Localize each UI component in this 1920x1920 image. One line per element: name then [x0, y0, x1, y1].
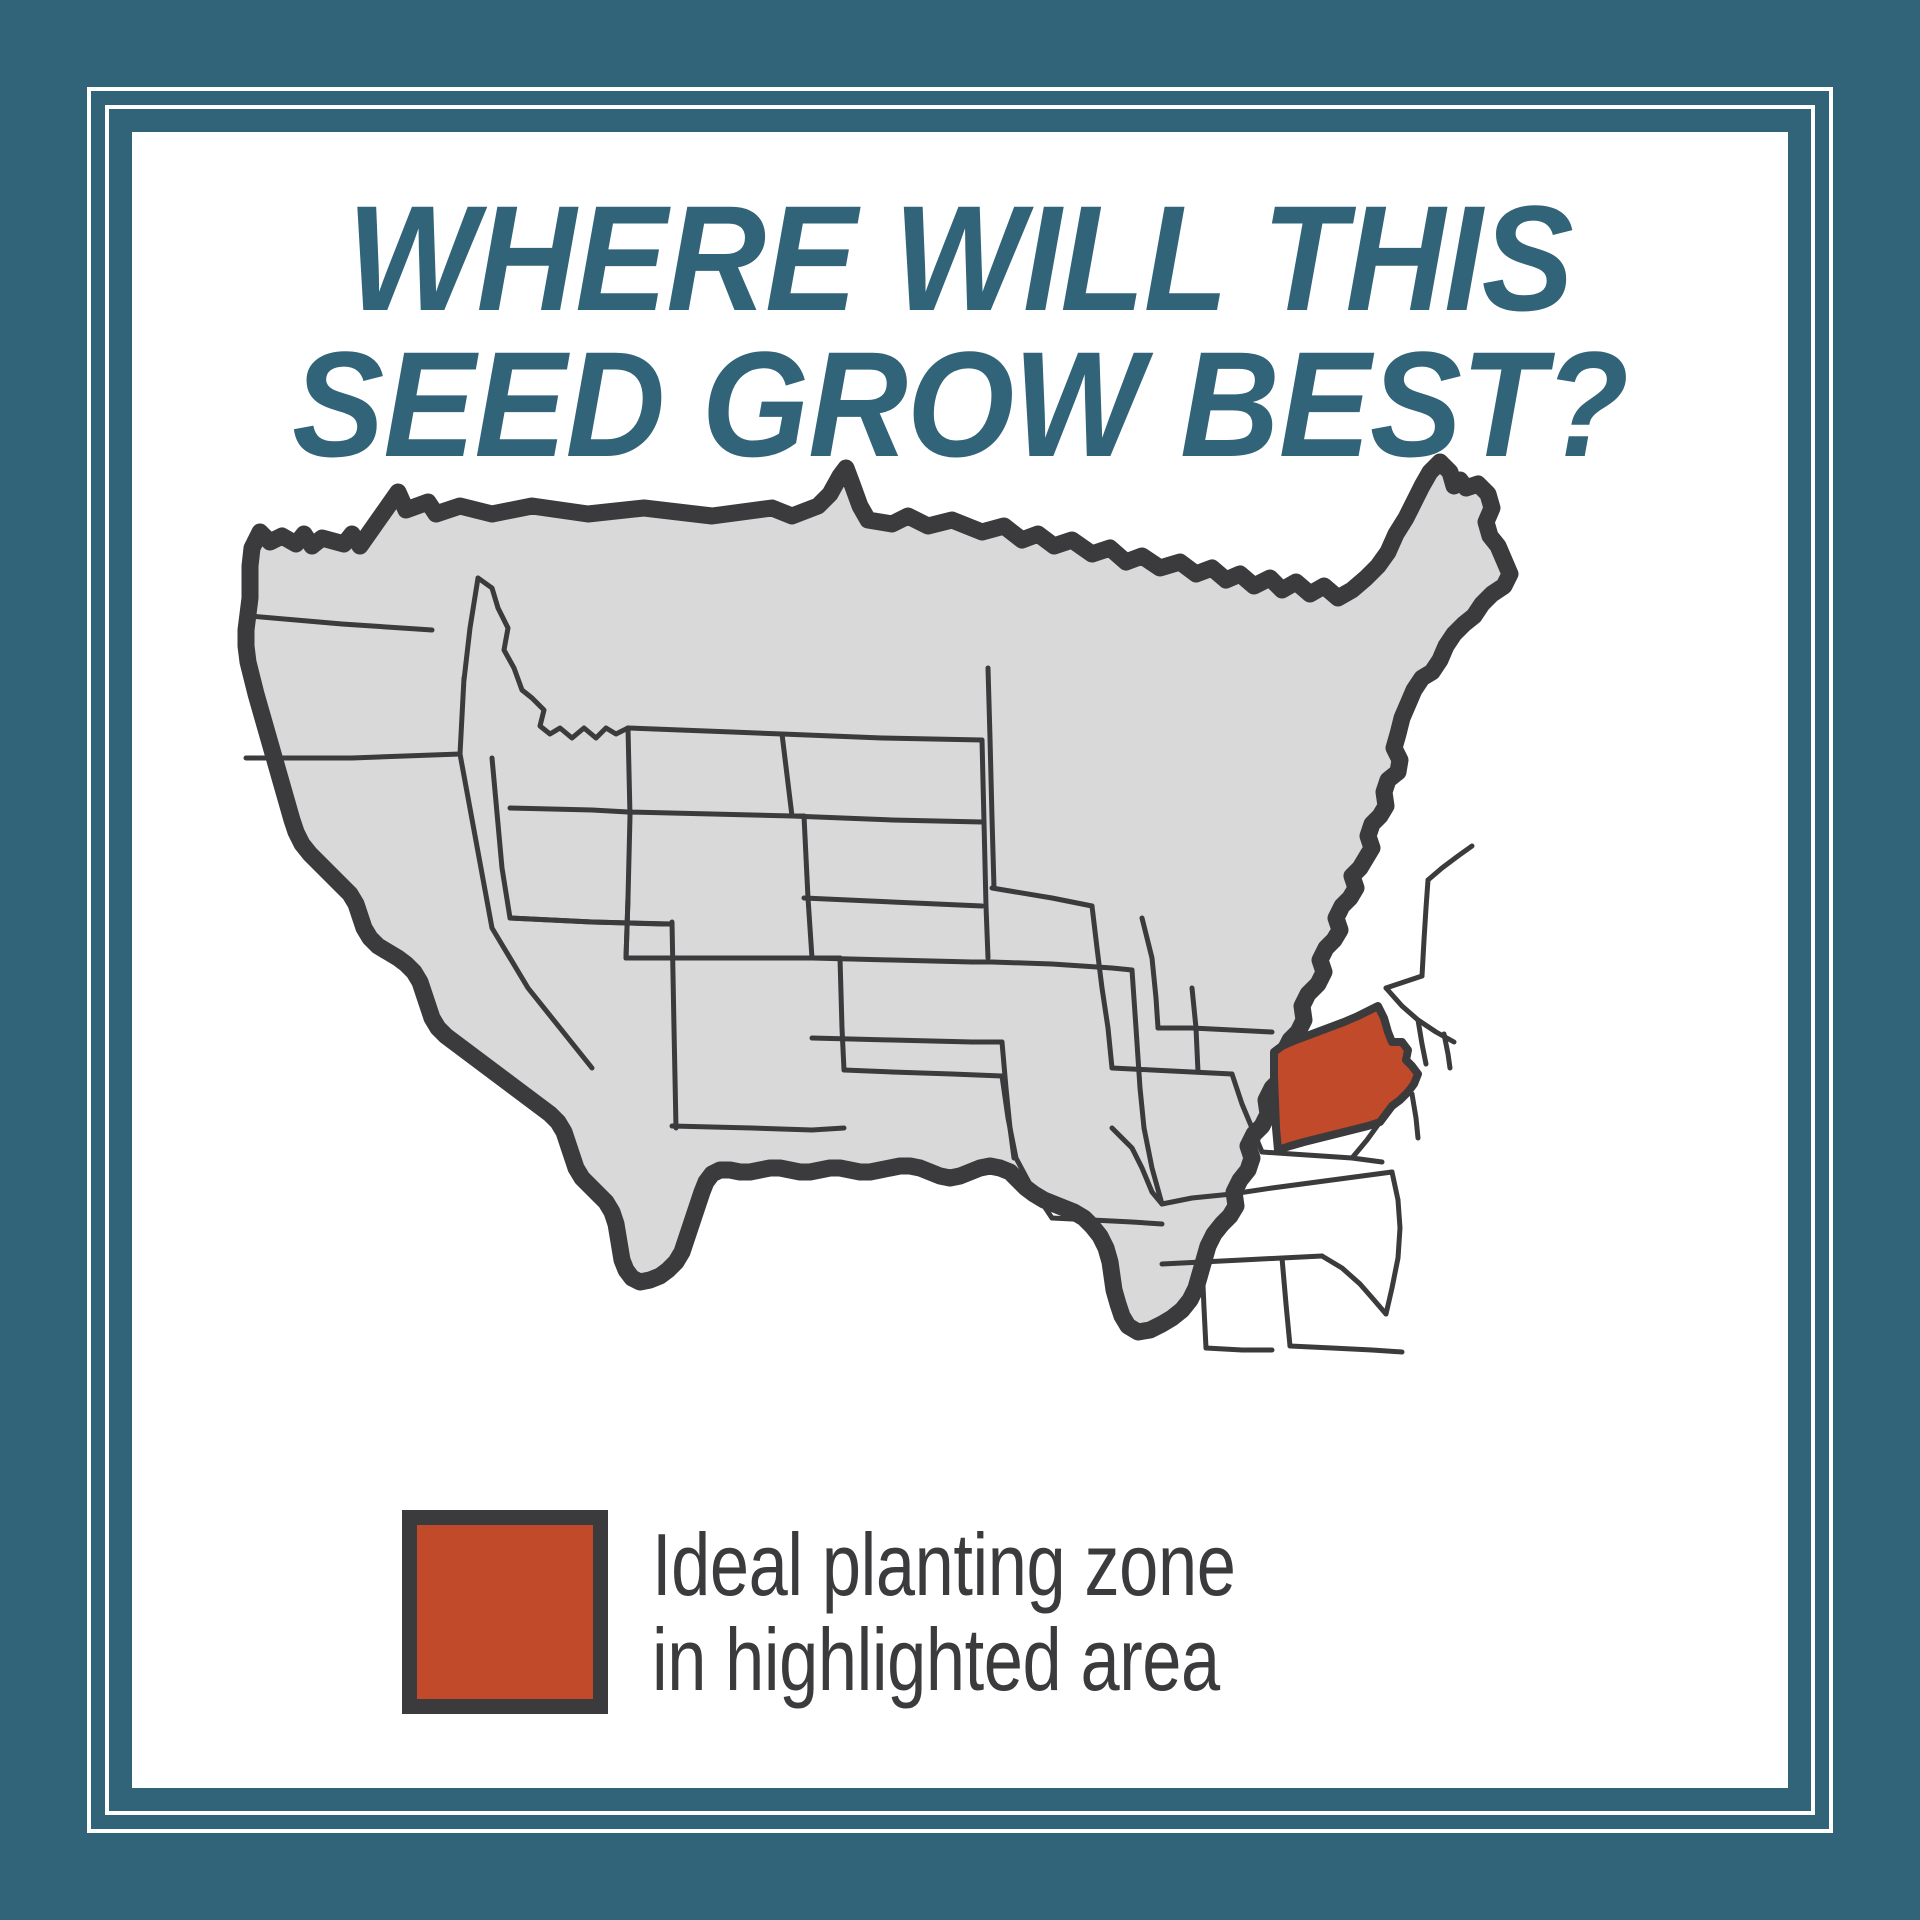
border-nj-de	[1412, 1094, 1418, 1138]
border-al-fl	[1206, 1348, 1272, 1350]
legend-label: Ideal planting zone in highlighted area	[652, 1517, 1235, 1707]
legend-label-line-1: Ideal planting zone	[652, 1517, 1235, 1612]
border-ut-co	[626, 898, 628, 958]
page-title-line-1: WHERE WILL THIS	[198, 186, 1722, 332]
frame-rule-outer-right	[1829, 87, 1833, 1833]
border-al-ga	[1282, 1258, 1290, 1346]
us-outline	[246, 462, 1510, 1332]
frame-rule-inner-right	[1811, 105, 1815, 1815]
border-sc-nc	[1386, 1200, 1400, 1314]
map-legend: Ideal planting zone in highlighted area	[402, 1502, 1522, 1722]
frame-rule-outer-bottom	[87, 1829, 1833, 1833]
frame-rule-outer-top	[87, 87, 1833, 91]
frame-rule-inner-bottom	[105, 1811, 1815, 1815]
border-tn-va-nc	[1302, 1172, 1392, 1184]
frame-rule-inner-top	[105, 105, 1815, 109]
border-ga-sc	[1322, 1256, 1386, 1314]
border-ga-fl	[1290, 1346, 1402, 1352]
border-va-nc-coast	[1392, 1172, 1398, 1200]
us-map	[192, 428, 1532, 1468]
map-outline-group	[246, 462, 1510, 1332]
poster-canvas: WHERE WILL THIS SEED GROW BEST?	[0, 0, 1920, 1920]
frame-rule-outer-left	[87, 87, 91, 1833]
legend-color-swatch	[402, 1510, 608, 1714]
poster-content-panel: WHERE WILL THIS SEED GROW BEST?	[132, 132, 1788, 1788]
border-nh-me	[1428, 846, 1472, 880]
legend-label-line-2: in highlighted area	[652, 1612, 1235, 1707]
border-vt-nh	[1422, 880, 1428, 976]
frame-rule-inner-left	[105, 105, 109, 1815]
us-map-svg	[192, 428, 1532, 1468]
border-ny-vt	[1386, 976, 1422, 988]
